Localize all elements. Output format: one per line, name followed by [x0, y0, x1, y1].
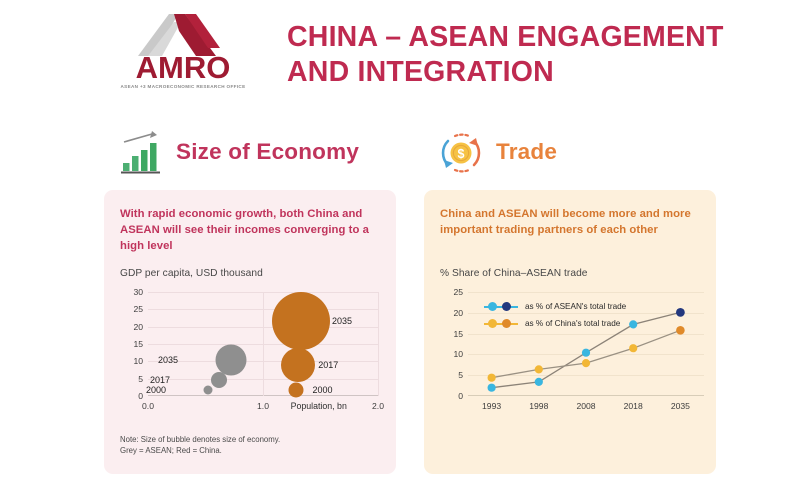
gridline-vertical	[263, 292, 264, 396]
x-axis-title: Population, bn	[291, 401, 347, 411]
y-axis-tick: 5	[437, 370, 463, 380]
bubble-label-asean-2017: 2017	[148, 375, 170, 385]
bar-chart-growth-icon	[118, 130, 164, 176]
x-axis-tick: 1.0	[257, 401, 269, 411]
legend-label-china: as % of China's total trade	[525, 319, 620, 328]
page-title: CHINA – ASEAN ENGAGEMENT AND INTEGRATION	[287, 20, 757, 91]
line-chart-caption: % Share of China–ASEAN trade	[440, 268, 588, 279]
line-chart-plot-area: 25 20 15 10 5 0 1993 1998 2008 2018 2035	[468, 292, 704, 396]
point-asean-1998	[535, 378, 543, 386]
x-axis-tick: 2.0	[372, 401, 384, 411]
bubble-chart-note: Note: Size of bubble denotes size of eco…	[120, 434, 390, 457]
amro-logo-wordmark: AMRO	[108, 52, 258, 83]
legend-item-china: as % of China's total trade	[484, 315, 626, 332]
x-axis-tick: 2035	[671, 401, 690, 411]
amro-logo-tagline: ASEAN +3 MACROECONOMIC RESEARCH OFFICE	[108, 84, 258, 89]
x-axis-tick: 2018	[624, 401, 643, 411]
y-axis-tick: 10	[117, 356, 143, 366]
x-axis-tick: 1998	[529, 401, 548, 411]
point-china-2035	[676, 326, 685, 335]
y-axis-tick: 30	[117, 287, 143, 297]
x-axis-tick: 2008	[576, 401, 595, 411]
y-axis-tick: 0	[437, 391, 463, 401]
y-axis-tick: 15	[117, 339, 143, 349]
y-axis-tick: 0	[117, 391, 143, 401]
legend-marker-asean	[484, 301, 518, 312]
x-axis-tick: 1993	[482, 401, 501, 411]
bubble-label-china-2017: 2017	[318, 360, 338, 370]
point-china-2018	[629, 344, 637, 352]
svg-text:$: $	[458, 147, 465, 161]
point-china-1993	[488, 374, 496, 382]
y-axis-tick: 25	[437, 287, 463, 297]
y-axis-tick: 20	[117, 322, 143, 332]
line-chart-legend: as % of ASEAN's total trade as % of Chin…	[484, 298, 626, 332]
panel-right-lede: China and ASEAN will become more and mor…	[440, 206, 702, 238]
point-asean-2035	[676, 308, 685, 317]
amro-logo: AMRO ASEAN +3 MACROECONOMIC RESEARCH OFF…	[108, 8, 258, 100]
bubble-label-asean-2000: 2000	[144, 385, 166, 395]
bubble-label-asean-2035: 2035	[156, 355, 178, 365]
bubble-label-china-2035: 2035	[332, 316, 352, 326]
bubble-chart-plot-area: 30 25 20 15 10 5 0 0.0 1.0 2.0 Populatio…	[148, 292, 378, 396]
bubble-asean-2035	[215, 344, 246, 375]
bubble-chart: 30 25 20 15 10 5 0 0.0 1.0 2.0 Populatio…	[118, 288, 386, 420]
y-axis-tick: 10	[437, 349, 463, 359]
point-china-1998	[535, 365, 543, 373]
legend-label-asean: as % of ASEAN's total trade	[525, 302, 626, 311]
y-axis-tick: 5	[117, 374, 143, 384]
x-axis-tick: 0.0	[142, 401, 154, 411]
bubble-china-2017	[281, 348, 315, 382]
line-chart: 25 20 15 10 5 0 1993 1998 2008 2018 2035	[438, 288, 710, 420]
page-header: AMRO ASEAN +3 MACROECONOMIC RESEARCH OFF…	[0, 0, 800, 108]
point-asean-2008	[582, 349, 590, 357]
gridline-vertical	[378, 292, 379, 396]
trade-dollar-cycle-icon: $	[438, 130, 484, 176]
point-asean-2018	[629, 320, 637, 328]
note-line-1: Note: Size of bubble denotes size of eco…	[120, 434, 390, 445]
note-line-2: Grey = ASEAN; Red = China.	[120, 445, 390, 456]
section-title-trade: Trade	[496, 139, 557, 165]
bubble-asean-2017	[211, 372, 227, 388]
bubble-china-2000	[289, 382, 304, 397]
y-axis-tick: 20	[437, 308, 463, 318]
bubble-asean-2000	[203, 386, 212, 395]
legend-marker-china	[484, 318, 518, 329]
bubble-chart-caption: GDP per capita, USD thousand	[120, 268, 263, 279]
bubble-label-china-2000: 2000	[312, 385, 332, 395]
section-title-size-of-economy: Size of Economy	[176, 139, 359, 165]
point-china-2008	[582, 359, 590, 367]
panel-left-lede: With rapid economic growth, both China a…	[120, 206, 382, 254]
legend-item-asean: as % of ASEAN's total trade	[484, 298, 626, 315]
point-asean-1993	[488, 384, 496, 392]
y-axis-tick: 15	[437, 329, 463, 339]
y-axis-tick: 25	[117, 304, 143, 314]
bubble-china-2035	[272, 292, 330, 350]
